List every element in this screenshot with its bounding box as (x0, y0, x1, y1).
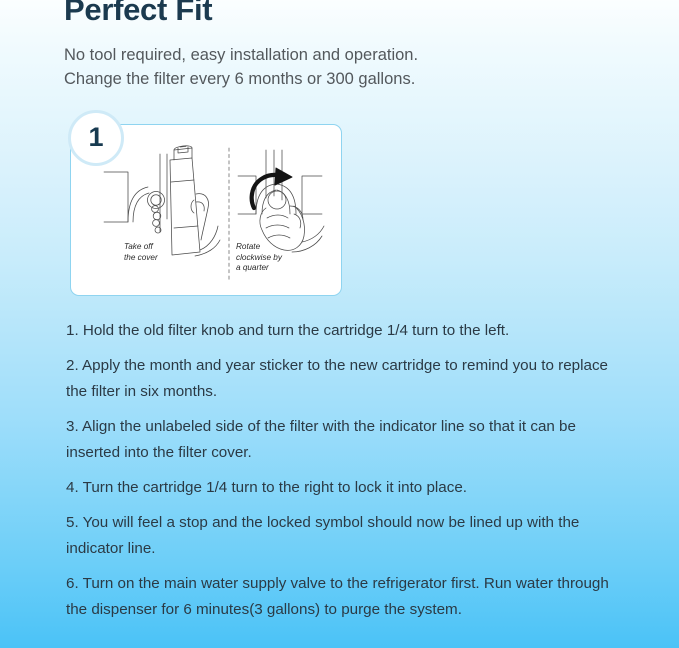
caption-left-line-2: the cover (124, 253, 158, 264)
instruction-steps-list: 1. Hold the old filter knob and turn the… (66, 318, 628, 623)
caption-rotate-clockwise: Rotate clockwise by a quarter (236, 242, 282, 274)
subtitle-line-2: Change the filter every 6 months or 300 … (64, 67, 418, 91)
step-number-badge: 1 (68, 110, 124, 166)
page-title: Perfect Fit (64, 0, 212, 28)
instruction-step: 4. Turn the cartridge 1/4 turn to the ri… (66, 475, 628, 501)
caption-right-line-1: Rotate (236, 242, 282, 253)
caption-left-line-1: Take off (124, 242, 158, 253)
caption-right-line-3: a quarter (236, 263, 282, 274)
instruction-step: 6. Turn on the main water supply valve t… (66, 571, 628, 623)
instruction-step: 1. Hold the old filter knob and turn the… (66, 318, 628, 344)
subtitle-block: No tool required, easy installation and … (64, 43, 418, 91)
instruction-step: 5. You will feel a stop and the locked s… (66, 510, 628, 562)
subtitle-line-1: No tool required, easy installation and … (64, 43, 418, 67)
product-info-panel: Perfect Fit No tool required, easy insta… (0, 0, 679, 648)
instruction-step: 2. Apply the month and year sticker to t… (66, 353, 628, 405)
caption-take-off-cover: Take off the cover (124, 242, 158, 263)
instruction-step: 3. Align the unlabeled side of the filte… (66, 414, 628, 466)
step-number-label: 1 (88, 124, 103, 151)
installation-diagram: Take off the cover Rotate clockwise by a… (70, 124, 342, 296)
caption-right-line-2: clockwise by (236, 253, 282, 264)
